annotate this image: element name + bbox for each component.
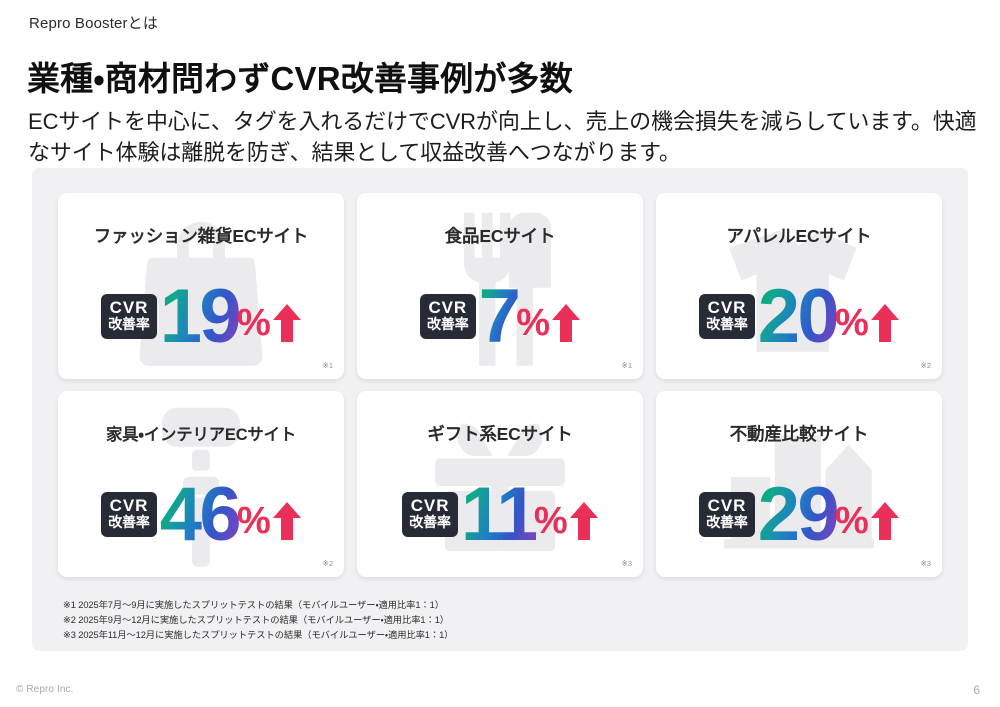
lede-paragraph: ECサイトを中心に、タグを入れるだけでCVRが向上し、売上の機会損失を減らしてい… — [28, 106, 980, 168]
metric-value: 20 — [758, 282, 837, 352]
footnote-line: ※1 2025年7月〜9月に実施したスプリットテストの結果（モバイルユーザー・適… — [63, 598, 453, 613]
metric-value: 19 — [160, 282, 239, 352]
up-arrow-icon — [273, 502, 301, 540]
cards-grid: ファッション雑貨ECサイト CVR 改善率 19 % ※1 — [58, 193, 942, 577]
page-number: 6 — [973, 683, 980, 697]
metric-unit: % — [534, 502, 568, 540]
card-title: 家具・インテリアECサイト — [58, 421, 344, 445]
cvr-badge: CVR 改善率 — [101, 294, 157, 339]
up-arrow-icon — [570, 502, 598, 540]
cards-panel: ファッション雑貨ECサイト CVR 改善率 19 % ※1 — [32, 168, 968, 651]
cvr-badge: CVR 改善率 — [699, 492, 755, 537]
case-card[interactable]: ギフト系ECサイト CVR 改善率 11 % ※3 — [357, 391, 643, 577]
metric-row: CVR 改善率 29 % — [656, 480, 942, 546]
cvr-badge-line1: CVR — [427, 299, 469, 316]
page-title: 業種・商材問わずCVR改善事例が多数 — [27, 58, 573, 100]
metric-unit: % — [516, 304, 550, 342]
metric-unit: % — [237, 304, 271, 342]
metric-value: 46 — [160, 480, 239, 550]
cvr-badge-line2: 改善率 — [409, 515, 451, 531]
metric-unit: % — [237, 502, 271, 540]
footnote-ref: ※2 — [921, 361, 931, 370]
up-arrow-icon — [552, 304, 580, 342]
cvr-badge-line2: 改善率 — [108, 317, 150, 333]
metric-value: 11 — [461, 480, 536, 550]
card-title: ファッション雑貨ECサイト — [58, 223, 344, 248]
footnote-line: ※3 2025年11月〜12月に実施したスプリットテストの結果（モバイルユーザー… — [63, 628, 453, 643]
metric-unit: % — [835, 304, 869, 342]
cvr-badge-line2: 改善率 — [108, 515, 150, 531]
cvr-badge-line1: CVR — [108, 497, 150, 514]
cvr-badge: CVR 改善率 — [402, 492, 458, 537]
footnote-ref: ※1 — [622, 361, 632, 370]
metric-row: CVR 改善率 46 % — [58, 480, 344, 546]
footnote-ref: ※3 — [921, 559, 931, 568]
up-arrow-icon — [273, 304, 301, 342]
cvr-badge-line2: 改善率 — [427, 317, 469, 333]
cvr-badge-line1: CVR — [706, 497, 748, 514]
cvr-badge: CVR 改善率 — [699, 294, 755, 339]
footnote-ref: ※1 — [323, 361, 333, 370]
cvr-badge: CVR 改善率 — [420, 294, 476, 339]
card-title: ギフト系ECサイト — [357, 421, 643, 446]
card-title: アパレルECサイト — [656, 223, 942, 248]
metric-value: 29 — [758, 480, 837, 550]
metric-row: CVR 改善率 11 % — [357, 480, 643, 546]
cvr-badge-line2: 改善率 — [706, 317, 748, 333]
case-card[interactable]: 食品ECサイト CVR 改善率 7 % ※1 — [357, 193, 643, 379]
cvr-badge-line2: 改善率 — [706, 515, 748, 531]
metric-value: 7 — [479, 282, 519, 352]
metric-row: CVR 改善率 19 % — [58, 282, 344, 348]
card-title: 食品ECサイト — [357, 223, 643, 248]
case-card[interactable]: 家具・インテリアECサイト CVR 改善率 46 % ※2 — [58, 391, 344, 577]
metric-row: CVR 改善率 7 % — [357, 282, 643, 348]
eyebrow-label: Repro Boosterとは — [29, 14, 158, 34]
copyright-label: © Repro Inc. — [16, 684, 73, 695]
metric-row: CVR 改善率 20 % — [656, 282, 942, 348]
up-arrow-icon — [871, 304, 899, 342]
cvr-badge: CVR 改善率 — [101, 492, 157, 537]
footnotes-block: ※1 2025年7月〜9月に実施したスプリットテストの結果（モバイルユーザー・適… — [63, 598, 453, 643]
cvr-badge-line1: CVR — [409, 497, 451, 514]
case-card[interactable]: 不動産比較サイト CVR 改善率 29 % ※3 — [656, 391, 942, 577]
metric-unit: % — [835, 502, 869, 540]
cvr-badge-line1: CVR — [108, 299, 150, 316]
footnote-ref: ※2 — [323, 559, 333, 568]
footnote-ref: ※3 — [622, 559, 632, 568]
up-arrow-icon — [871, 502, 899, 540]
case-card[interactable]: アパレルECサイト CVR 改善率 20 % ※2 — [656, 193, 942, 379]
footnote-line: ※2 2025年9月〜12月に実施したスプリットテストの結果（モバイルユーザー・… — [63, 613, 453, 628]
case-card[interactable]: ファッション雑貨ECサイト CVR 改善率 19 % ※1 — [58, 193, 344, 379]
card-title: 不動産比較サイト — [656, 421, 942, 446]
cvr-badge-line1: CVR — [706, 299, 748, 316]
